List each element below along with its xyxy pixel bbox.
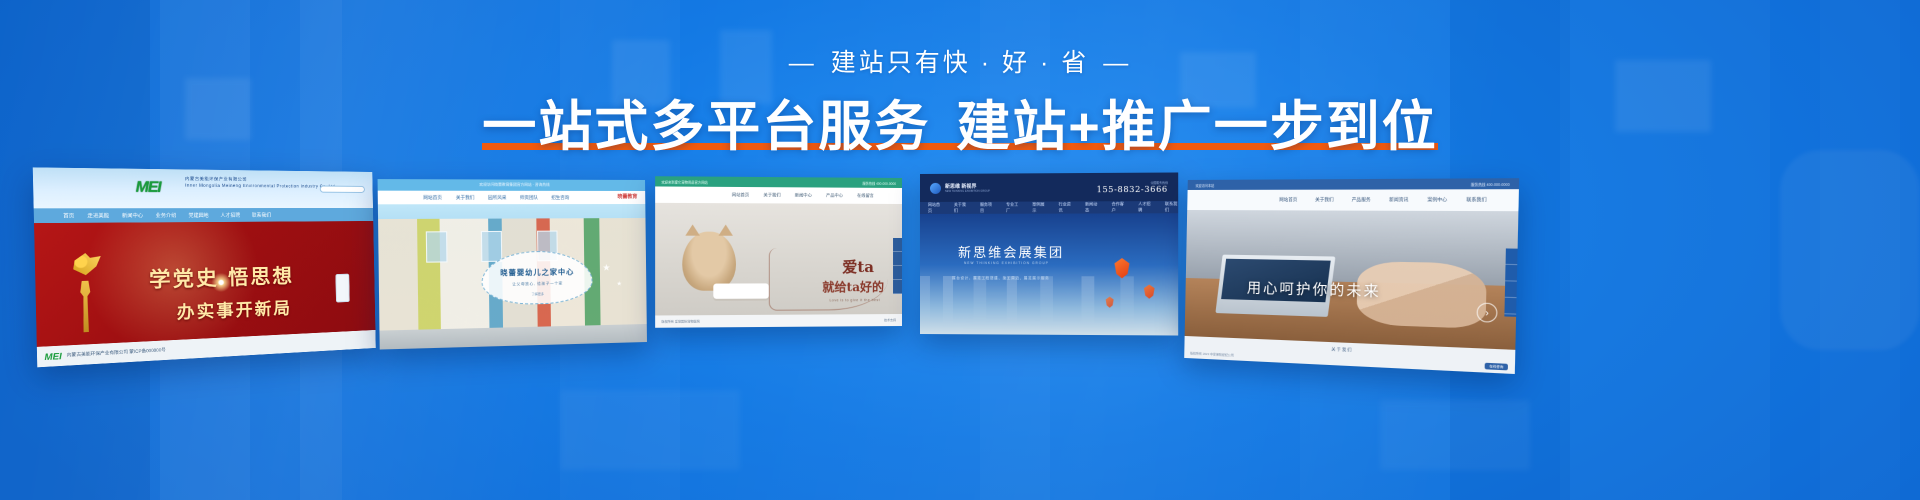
site3-topbar-right: 服务热线 400-000-0000 (862, 180, 896, 185)
site5-nav-item[interactable]: 关于我们 (1315, 197, 1334, 203)
background-ghost-card (560, 390, 740, 470)
site5-topbar-left: 欢迎访问本站 (1195, 182, 1214, 187)
site5-hero-photo: 用心呵护你的未来 › (1185, 210, 1519, 350)
headline-part-2: 建站+推广一步到位 (956, 97, 1438, 157)
showcase-item-party-site[interactable]: MEI 内蒙古美能环保产业有限公司 Inner Mongolia Meineng… (33, 167, 376, 367)
site3-slogan-1: 爱ta (842, 256, 874, 277)
site5-nav-item[interactable]: 网站首页 (1279, 197, 1297, 203)
banner-headline-wrap: 一站式多平台服务建站+推广一步到位 (482, 96, 1438, 158)
site3-slogan-2: 就给ta好的 (822, 278, 884, 295)
site2-nav[interactable]: 网站首页 关于我们 园所风采 师资团队 招生咨询 (378, 191, 646, 205)
site5-footer-text: 关于我们 (1331, 346, 1352, 353)
site2-nav-item[interactable]: 关于我们 (456, 194, 475, 200)
subtitle-dash-left: — (775, 46, 831, 80)
site5-slogan: 用心呵护你的未来 (1247, 277, 1381, 301)
site2-hero-photo: ★ ★ 晓蕾婴幼儿之家中心 让父母放心, 给孩子一个家 了解更多 (378, 204, 647, 350)
site3-nav-item[interactable]: 在线留言 (857, 193, 874, 199)
site2-bubble-sub: 让父母放心, 给孩子一个家 (483, 281, 592, 288)
site1-nav-item[interactable]: 业务介绍 (156, 212, 177, 219)
site5-nav-item[interactable]: 产品服务 (1352, 197, 1371, 203)
site1-company: 内蒙古美能环保产业有限公司 Inner Mongolia Meineng Env… (185, 176, 335, 190)
showcase-item-pet-site[interactable]: 欢迎来到爱它宠物用品官方网站 服务热线 400-000-0000 爱宠国际宠物医… (655, 176, 902, 328)
site1-nav-item[interactable]: 走进美能 (87, 212, 109, 219)
site1-company-en: Inner Mongolia Meineng Environmental Pro… (185, 182, 335, 189)
site5-nav-item[interactable]: 案例中心 (1427, 197, 1447, 203)
site4-nav-item[interactable]: 新闻动态 (1085, 201, 1098, 213)
banner-subtitle: —建站只有快 · 好 · 省— (0, 46, 1920, 80)
site4-hero-desc: 展台设计、展览工程搭建、施工周边、展览展示服务 (952, 276, 1049, 281)
showcase-item-kindergarten-site[interactable]: 欢迎访问晓蕾教育集团官方网站 · 咨询热线 网站首页 关于我们 园所风采 师资团… (378, 179, 647, 349)
site5-nav-item[interactable]: 联系我们 (1466, 197, 1486, 204)
site3-topbar-left: 欢迎来到爱它宠物用品官方网站 (661, 179, 707, 184)
pet-bowl-icon (713, 283, 768, 298)
site1-search-input[interactable] (320, 186, 365, 193)
party-emblem-icon (71, 252, 102, 277)
site2-topbar: 欢迎访问晓蕾教育集团官方网站 · 咨询热线 (378, 179, 646, 191)
site5-side-toolbar[interactable] (1504, 248, 1517, 316)
window-graphic (426, 231, 448, 262)
site4-brand: 新思维 新视界 NEW THINKING EXHIBITION GROUP (930, 182, 990, 193)
site3-nav[interactable]: 网站首页 关于我们 新闻中心 产品中心 在线留言 (655, 186, 902, 204)
site1-nav-item[interactable]: 人才招聘 (220, 212, 240, 218)
balloon-icon (1113, 258, 1130, 278)
showcase-item-exhibition-site[interactable]: 新思维 新视界 NEW THINKING EXHIBITION GROUP 全国… (920, 172, 1178, 335)
site4-nav-item[interactable]: 案例展示 (1032, 202, 1045, 214)
site4-nav-item[interactable]: 网站首页 (928, 202, 941, 214)
site4-brand-en: NEW THINKING EXHIBITION GROUP (945, 190, 990, 193)
banner-headline: 一站式多平台服务建站+推广一步到位 (482, 96, 1438, 158)
site5-footer-chip: 版权所有 2023 中安保险经纪公司 (1190, 351, 1234, 357)
site4-nav-item[interactable]: 关于我们 (954, 202, 967, 214)
site1-nav-item[interactable]: 首页 (63, 212, 74, 219)
headline-part-1: 一站式多平台服务 (482, 97, 930, 157)
site4-tel: 全国服务热线 155-8832-3666 (1097, 180, 1168, 194)
showcase-carousel[interactable]: MEI 内蒙古美能环保产业有限公司 Inner Mongolia Meineng… (0, 166, 1920, 376)
site5-nav[interactable]: 网站首页 关于我们 产品服务 新闻资讯 案例中心 联系我们 (1187, 189, 1519, 211)
site5-topbar: 欢迎访问本站 服务热线 400-000-0000 (1188, 178, 1520, 190)
site1-footer-text: 内蒙古美能环保产业有限公司 蒙ICP备000000号 (67, 347, 166, 359)
site3-footer-right: 技术支持 (884, 318, 896, 322)
torch-monument-icon (77, 281, 95, 333)
site4-nav-item[interactable]: 行业资讯 (1059, 201, 1072, 213)
site1-nav-item[interactable]: 联系我们 (252, 212, 271, 218)
site1-hero-banner: 学党史 悟思想 办实事开新局 (34, 221, 375, 347)
site3-nav-item[interactable]: 网站首页 (732, 192, 749, 198)
site3-nav-item[interactable]: 产品中心 (826, 193, 843, 199)
site4-hero-title: 新思维会展集团 (958, 242, 1064, 261)
star-icon: ★ (617, 280, 622, 287)
site2-bubble-note: 了解更多 (483, 291, 592, 297)
site1-logo: MEI (135, 178, 160, 196)
subtitle-dash-right: — (1089, 46, 1145, 80)
city-skyline-graphic (920, 276, 1178, 336)
site3-footer-left: 版权所有 爱宠国际宠物医院 (661, 319, 699, 323)
exhibition-logo-icon (930, 182, 941, 193)
site5-nav-item[interactable]: 新闻资讯 (1389, 197, 1408, 203)
site1-header: MEI 内蒙古美能环保产业有限公司 Inner Mongolia Meineng… (33, 167, 373, 208)
site4-nav-item[interactable]: 人才招聘 (1138, 201, 1151, 213)
site4-nav-item[interactable]: 合作客户 (1112, 201, 1125, 213)
banner-copy: —建站只有快 · 好 · 省— 一站式多平台服务建站+推广一步到位 (0, 46, 1920, 158)
site4-nav[interactable]: 网站首页 关于我们 服务项目 专业工厂 案例展示 行业资讯 新闻动态 合作客户 … (920, 201, 1178, 214)
site2-brand: 晓蕾教育 (617, 191, 637, 203)
site4-hero-sub: NEW THINKING EXHIBITION GROUP (964, 261, 1049, 265)
site2-nav-item[interactable]: 招生咨询 (551, 194, 569, 200)
background-ghost-card (1380, 400, 1530, 470)
site3-side-toolbar[interactable] (893, 238, 902, 294)
site5-topbar-right: 服务热线 400-000-0000 (1471, 181, 1510, 187)
site4-header: 新思维 新视界 NEW THINKING EXHIBITION GROUP 全国… (920, 172, 1178, 202)
site1-nav-item[interactable]: 党建园地 (188, 212, 208, 218)
site2-nav-item[interactable]: 园所风采 (488, 194, 506, 200)
site4-nav-item[interactable]: 专业工厂 (1006, 202, 1019, 214)
site2-bubble-title: 晓蕾婴幼儿之家中心 (482, 267, 591, 279)
site1-footer-logo: MEI (44, 351, 62, 362)
site3-slogan-en: Love is to give it the best (829, 298, 880, 302)
site2-nav-item[interactable]: 网站首页 (423, 194, 442, 200)
site4-tel-number: 155-8832-3666 (1097, 184, 1168, 193)
showcase-item-laptop-site[interactable]: 欢迎访问本站 服务热线 400-000-0000 中安保险经纪公司 ZHONGA… (1184, 178, 1519, 374)
site4-nav-item[interactable]: 联系我们 (1165, 201, 1178, 213)
site3-hero-photo: 爱ta 就给ta好的 Love is to give it the best (655, 203, 902, 316)
site1-banner-line2: 办实事开新局 (177, 294, 293, 324)
star-icon: ★ (602, 262, 610, 273)
site2-nav-item[interactable]: 师资团队 (520, 194, 538, 200)
subtitle-text: 建站只有快 · 好 · 省 (831, 49, 1089, 77)
site3-footer: 版权所有 爱宠国际宠物医院 技术支持 (655, 314, 902, 328)
cat-photo-icon (682, 232, 736, 291)
site3-nav-item[interactable]: 关于我们 (763, 192, 780, 198)
site5-footer-button[interactable]: 在线咨询 (1485, 363, 1508, 371)
phone-mockup-icon (335, 274, 349, 303)
site3-nav-item[interactable]: 新闻中心 (795, 192, 812, 198)
site4-hero: 新思维会展集团 NEW THINKING EXHIBITION GROUP 展台… (920, 213, 1178, 335)
sparkle-icon (211, 273, 231, 293)
site1-nav-item[interactable]: 新闻中心 (122, 212, 143, 219)
site4-nav-item[interactable]: 服务项目 (980, 202, 993, 214)
window-graphic (481, 231, 502, 262)
